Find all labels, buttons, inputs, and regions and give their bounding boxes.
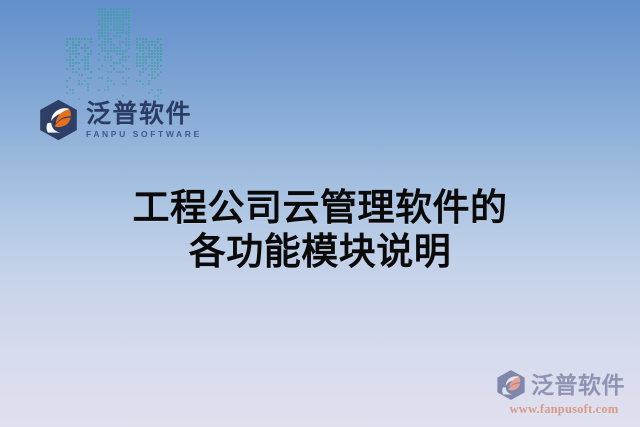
watermark-url: www.fanpusoft.com <box>494 402 634 417</box>
slide-title: 工程公司云管理软件的 各功能模块说明 <box>0 186 640 274</box>
slide-title-line-1: 工程公司云管理软件的 <box>0 186 640 230</box>
pixel-skyline-icon <box>64 6 164 100</box>
brand-name-en: FANPU SOFTWARE <box>86 130 202 139</box>
watermark: 泛普软件 www.fanpusoft.com <box>494 369 634 417</box>
watermark-logo-row: 泛普软件 <box>494 369 634 401</box>
slide-title-line-2: 各功能模块说明 <box>0 230 640 274</box>
watermark-name-cn: 泛普软件 <box>531 374 625 397</box>
slide-canvas: 泛普软件 FANPU SOFTWARE 工程公司云管理软件的 各功能模块说明 泛… <box>0 0 640 427</box>
brand-text: 泛普软件 FANPU SOFTWARE <box>86 102 202 139</box>
brand-lockup: 泛普软件 FANPU SOFTWARE <box>38 99 202 141</box>
brand-name-cn: 泛普软件 <box>86 102 202 127</box>
fanpu-hexagon-logo-icon <box>38 99 79 141</box>
fanpu-hexagon-logo-muted-icon <box>494 369 528 401</box>
